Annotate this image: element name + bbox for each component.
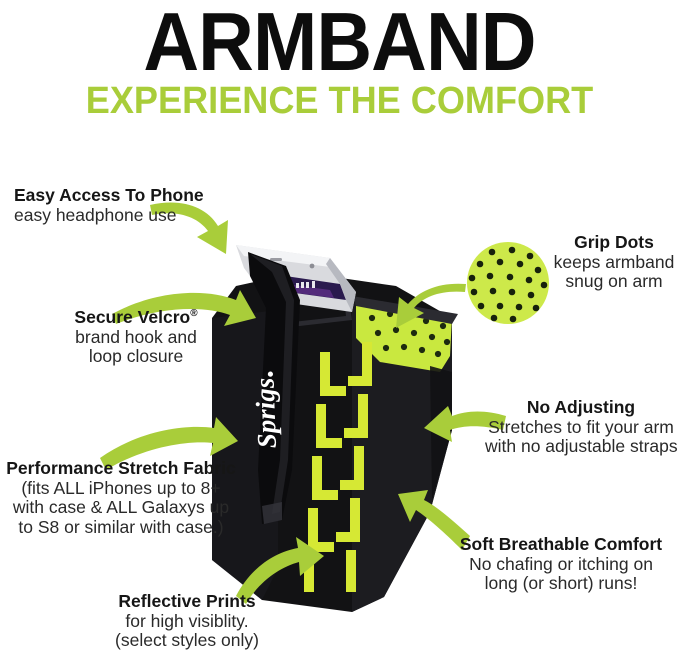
registered-trademark-icon: ®: [190, 308, 197, 319]
callout-reflective-prints: Reflective Prints for high visiblity. (s…: [82, 592, 292, 651]
callout-grip-dots-sub-1: snug on arm: [552, 272, 676, 292]
callout-secure-velcro-sub-1: loop closure: [36, 347, 236, 367]
product-infographic: ARMBAND EXPERIENCE THE COMFORT: [0, 0, 679, 664]
callout-no-adjusting-head: No Adjusting: [485, 398, 677, 418]
callout-soft-breathable: Soft Breathable Comfort No chafing or it…: [444, 535, 678, 594]
callout-easy-access-sub-0: easy headphone use: [14, 206, 204, 226]
brand-logo: Sprigs: [249, 371, 282, 449]
callout-easy-access-head: Easy Access To Phone: [14, 186, 204, 206]
callout-no-adjusting: No Adjusting Stretches to fit your arm w…: [485, 398, 677, 457]
callout-secure-velcro-head: Secure Velcro®: [36, 308, 236, 328]
callout-performance-stretch-head: Performance Stretch Fabric: [2, 459, 240, 479]
callout-secure-velcro-sub-0: brand hook and: [36, 328, 236, 348]
callout-grip-dots-head: Grip Dots: [552, 233, 676, 253]
callout-soft-breathable-head: Soft Breathable Comfort: [444, 535, 678, 555]
callout-performance-stretch: Performance Stretch Fabric (fits ALL iPh…: [2, 459, 240, 538]
callout-no-adjusting-sub-0: Stretches to fit your arm: [485, 418, 677, 438]
callout-easy-access: Easy Access To Phone easy headphone use: [14, 186, 204, 225]
callout-secure-velcro-head-text: Secure Velcro: [74, 307, 190, 327]
callout-performance-stretch-sub-2: to S8 or similar with case.): [2, 518, 240, 538]
grip-dots-swatch: [467, 242, 549, 324]
callout-grip-dots-sub-0: keeps armband: [552, 253, 676, 273]
callout-no-adjusting-sub-1: with no adjustable straps: [485, 437, 677, 457]
callout-reflective-prints-sub-1: (select styles only): [82, 631, 292, 651]
callout-grip-dots: Grip Dots keeps armband snug on arm: [552, 233, 676, 292]
brand-logo-text: Sprigs: [250, 377, 282, 449]
callout-performance-stretch-sub-1: with case & ALL Galaxys up: [2, 498, 240, 518]
callout-reflective-prints-head: Reflective Prints: [82, 592, 292, 612]
callout-soft-breathable-sub-0: No chafing or itching on: [444, 555, 678, 575]
callout-reflective-prints-sub-0: for high visiblity.: [82, 612, 292, 632]
callout-secure-velcro: Secure Velcro® brand hook and loop closu…: [36, 308, 236, 367]
callout-performance-stretch-sub-0: (fits ALL iPhones up to 8+: [2, 479, 240, 499]
callout-soft-breathable-sub-1: long (or short) runs!: [444, 574, 678, 594]
